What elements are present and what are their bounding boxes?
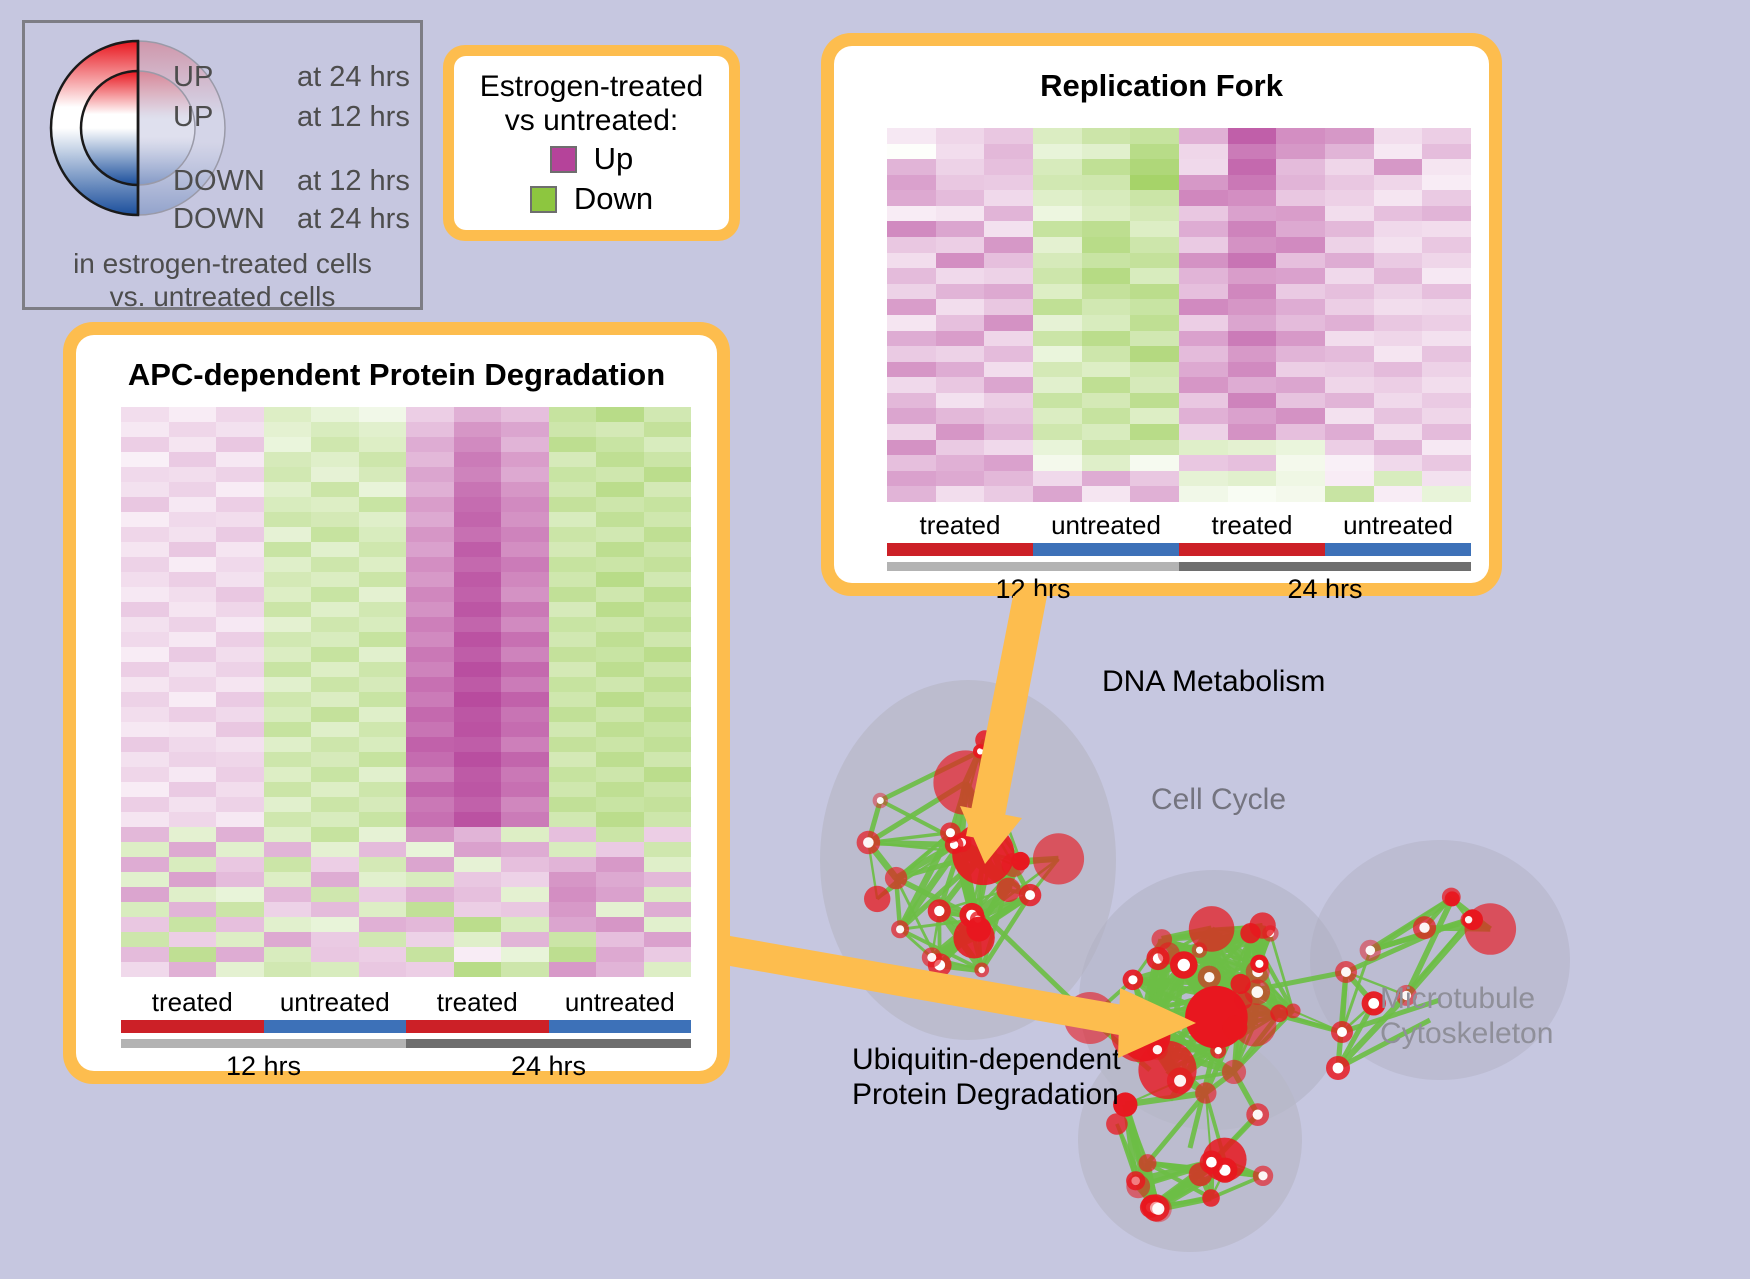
heatmap-cell <box>311 437 359 452</box>
heatmap-cell <box>887 284 936 300</box>
panel-apc-title: APC-dependent Protein Degradation <box>76 357 717 393</box>
heatmap-cell <box>121 512 169 527</box>
heatmap-cell <box>1130 486 1179 502</box>
network-node <box>1222 1060 1246 1084</box>
heatmap-cell <box>406 677 454 692</box>
heatmap-cell <box>596 722 644 737</box>
heatmap-cell <box>264 617 312 632</box>
heatmap-cell <box>454 572 502 587</box>
heatmap-cell <box>406 737 454 752</box>
treatment-labels: treated untreated treated untreated <box>121 987 691 1018</box>
heatmap-cell <box>121 662 169 677</box>
heatmap-cell <box>359 767 407 782</box>
heatmap-cell <box>549 662 597 677</box>
heatmap-cell <box>1033 424 1082 440</box>
heatmap-cell <box>501 812 549 827</box>
heatmap-cell <box>359 437 407 452</box>
heatmap-cell <box>216 902 264 917</box>
heatmap-cell <box>596 857 644 872</box>
heatmap-cell <box>264 872 312 887</box>
heatmap-cell <box>984 206 1033 222</box>
heatmap-cell <box>936 346 985 362</box>
heatmap-cell <box>984 424 1033 440</box>
panel-replication-fork-title: Replication Fork <box>834 68 1489 104</box>
heatmap-cell <box>549 917 597 932</box>
color-key-row-0-direction: UP <box>173 61 213 94</box>
timepoint-bar-segment <box>121 1039 406 1048</box>
heatmap-cell <box>359 842 407 857</box>
heatmap-cell <box>311 617 359 632</box>
heatmap-cell <box>549 497 597 512</box>
heatmap-cell <box>311 557 359 572</box>
heatmap-cell <box>406 902 454 917</box>
heatmap-cell <box>887 268 936 284</box>
heatmap-cell <box>1422 471 1471 487</box>
heatmap-cell <box>1179 253 1228 269</box>
heatmap-cell <box>549 527 597 542</box>
heatmap-cell <box>311 797 359 812</box>
heatmap-cell <box>1422 221 1471 237</box>
heatmap-cell <box>1276 159 1325 175</box>
heatmap-cell <box>264 917 312 932</box>
heatmap-cell <box>216 692 264 707</box>
heatmap-cell <box>1276 175 1325 191</box>
network-node-core <box>1419 923 1429 933</box>
heatmap-cell <box>1033 471 1082 487</box>
heatmap-cell <box>121 647 169 662</box>
color-key-footer: in estrogen-treated cells vs. untreated … <box>25 247 420 313</box>
heatmap-cell <box>121 692 169 707</box>
heatmap-cell <box>1033 331 1082 347</box>
heatmap-cell <box>454 587 502 602</box>
heatmap-cell <box>644 842 692 857</box>
heatmap-cell <box>596 602 644 617</box>
heatmap-cell <box>936 206 985 222</box>
timepoint-labels: 12 hrs 24 hrs <box>121 1051 691 1082</box>
heatmap-cell <box>1179 377 1228 393</box>
heatmap-cell <box>264 887 312 902</box>
network-node <box>1158 942 1180 964</box>
heatmap-cell <box>1130 175 1179 191</box>
heatmap-cell <box>121 887 169 902</box>
heatmap-cell <box>1228 455 1277 471</box>
heatmap-cell <box>984 190 1033 206</box>
heatmap-cell <box>169 542 217 557</box>
heatmap-cell <box>984 144 1033 160</box>
heatmap-cell <box>311 512 359 527</box>
heatmap-cell <box>501 752 549 767</box>
heatmap-cell <box>1325 144 1374 160</box>
heatmap-cell <box>887 486 936 502</box>
heatmap-cell <box>1033 377 1082 393</box>
color-key-row-2-time: at 12 hrs <box>297 165 410 198</box>
heatmap-cell <box>887 190 936 206</box>
heatmap-cell <box>454 737 502 752</box>
network-node-core <box>934 906 944 916</box>
heatmap-cell <box>887 362 936 378</box>
up-down-legend: Estrogen-treated vs untreated: Up Down <box>443 45 740 241</box>
heatmap-cell <box>501 527 549 542</box>
treatment-label: treated <box>887 510 1033 541</box>
timepoint-bar-segment <box>406 1039 691 1048</box>
heatmap-cell <box>1276 268 1325 284</box>
heatmap-cell <box>549 602 597 617</box>
network-node-core <box>1178 959 1190 971</box>
heatmap-cell <box>1082 471 1131 487</box>
heatmap-cell <box>1082 486 1131 502</box>
heatmap-cell <box>359 932 407 947</box>
heatmap-cell <box>264 662 312 677</box>
heatmap-cell <box>1082 206 1131 222</box>
heatmap-cell <box>264 407 312 422</box>
heatmap-cell <box>1325 128 1374 144</box>
heatmap-cell <box>936 331 985 347</box>
legend-item-down: Down <box>530 181 653 217</box>
heatmap-cell <box>454 497 502 512</box>
heatmap-cell <box>596 707 644 722</box>
heatmap-cell <box>936 253 985 269</box>
heatmap-cell <box>1228 471 1277 487</box>
heatmap-cell <box>1228 221 1277 237</box>
heatmap-cell <box>984 284 1033 300</box>
heatmap-cell <box>549 632 597 647</box>
heatmap-cell <box>216 782 264 797</box>
heatmap-cell <box>216 602 264 617</box>
heatmap-cell <box>644 602 692 617</box>
heatmap-cell <box>1033 299 1082 315</box>
heatmap-cell <box>1082 284 1131 300</box>
heatmap-cell <box>216 497 264 512</box>
heatmap-cell <box>169 647 217 662</box>
heatmap-cell <box>1374 471 1423 487</box>
heatmap-cell <box>1374 253 1423 269</box>
heatmap-cell <box>501 557 549 572</box>
heatmap-cell <box>121 677 169 692</box>
heatmap-cell <box>644 872 692 887</box>
network-node-core <box>1153 1045 1162 1054</box>
heatmap-cell <box>644 452 692 467</box>
heatmap-cell <box>984 128 1033 144</box>
heatmap-cell <box>501 587 549 602</box>
network-node-core <box>863 837 874 848</box>
heatmap-cell <box>216 467 264 482</box>
heatmap-cell <box>596 497 644 512</box>
heatmap-cell <box>501 662 549 677</box>
heatmap-cell <box>216 437 264 452</box>
heatmap-cell <box>1130 144 1179 160</box>
heatmap-cell <box>549 452 597 467</box>
heatmap-cell <box>1422 315 1471 331</box>
heatmap-cell <box>311 422 359 437</box>
heatmap-cell <box>501 602 549 617</box>
heatmap-cell <box>1325 393 1374 409</box>
heatmap-cell <box>1082 237 1131 253</box>
heatmap-cell <box>1422 268 1471 284</box>
heatmap-cell <box>1422 299 1471 315</box>
heatmap-cell <box>264 497 312 512</box>
heatmap-cell <box>121 722 169 737</box>
heatmap-cell <box>501 797 549 812</box>
heatmap-cell <box>216 932 264 947</box>
heatmap-cell <box>644 422 692 437</box>
heatmap-cell <box>359 617 407 632</box>
heatmap-cell <box>169 962 217 977</box>
heatmap-cell <box>359 797 407 812</box>
heatmap-cell <box>1130 315 1179 331</box>
heatmap-cell <box>1422 284 1471 300</box>
heatmap-cell <box>1033 440 1082 456</box>
heatmap-cell <box>984 253 1033 269</box>
heatmap-cell <box>549 737 597 752</box>
heatmap-cell <box>264 842 312 857</box>
heatmap-cell <box>644 497 692 512</box>
heatmap-cell <box>264 467 312 482</box>
heatmap-cell <box>936 268 985 284</box>
heatmap-cell <box>887 253 936 269</box>
network-node <box>1033 833 1084 884</box>
heatmap-cell <box>501 452 549 467</box>
heatmap-cell <box>1130 190 1179 206</box>
heatmap-cell <box>1276 471 1325 487</box>
heatmap-cell <box>1325 315 1374 331</box>
heatmap-cell <box>1082 331 1131 347</box>
heatmap-cell <box>216 917 264 932</box>
network-node-core <box>1196 947 1203 954</box>
heatmap-cell <box>121 767 169 782</box>
heatmap-cell <box>984 346 1033 362</box>
legend-title-line-1: Estrogen-treated <box>480 70 703 104</box>
heatmap-cell <box>311 527 359 542</box>
heatmap-cell <box>549 482 597 497</box>
heatmap-cell <box>501 407 549 422</box>
heatmap-cell <box>1422 159 1471 175</box>
network-node-core <box>1255 960 1263 968</box>
heatmap-cell <box>596 842 644 857</box>
heatmap-cell <box>596 677 644 692</box>
heatmap-cell <box>121 707 169 722</box>
heatmap-cell <box>454 917 502 932</box>
heatmap-cell <box>454 692 502 707</box>
legend-item-up-label: Up <box>594 141 634 177</box>
timepoint-label: 12 hrs <box>121 1051 406 1082</box>
heatmap-cell <box>311 467 359 482</box>
network-node <box>975 730 995 750</box>
heatmap-cell <box>1033 268 1082 284</box>
heatmap-cell <box>1179 221 1228 237</box>
network-node <box>1202 1189 1220 1207</box>
heatmap-cell <box>501 737 549 752</box>
heatmap-cell <box>984 377 1033 393</box>
heatmap-cell <box>1130 331 1179 347</box>
treatment-bar-segment <box>1325 543 1471 556</box>
heatmap-cell <box>311 962 359 977</box>
heatmap-cell <box>311 842 359 857</box>
heatmap-cell <box>311 932 359 947</box>
heatmap-cell <box>216 482 264 497</box>
heatmap-cell <box>169 662 217 677</box>
heatmap-cell <box>549 587 597 602</box>
heatmap-cell <box>121 542 169 557</box>
heatmap-cell <box>1422 128 1471 144</box>
heatmap-cell <box>454 482 502 497</box>
treatment-bar-segment <box>549 1020 692 1033</box>
heatmap-cell <box>359 572 407 587</box>
network-node-core <box>1215 1047 1222 1054</box>
heatmap-cell <box>406 767 454 782</box>
heatmap-cell <box>596 467 644 482</box>
heatmap-cell <box>264 752 312 767</box>
heatmap-cell <box>264 902 312 917</box>
heatmap-cell <box>1374 377 1423 393</box>
network-node-core <box>927 953 936 962</box>
heatmap-cell <box>1228 424 1277 440</box>
heatmap-cell <box>264 512 312 527</box>
heatmap-cell <box>1179 159 1228 175</box>
heatmap-cell <box>1325 284 1374 300</box>
heatmap-cell <box>359 947 407 962</box>
heatmap-cell <box>887 346 936 362</box>
heatmap-cell <box>406 692 454 707</box>
heatmap-cell <box>406 632 454 647</box>
heatmap-cell <box>264 632 312 647</box>
heatmap-cell <box>169 677 217 692</box>
heatmap-cell <box>1130 268 1179 284</box>
heatmap-cell <box>1325 268 1374 284</box>
heatmap-cell <box>1374 175 1423 191</box>
heatmap-cell <box>1033 393 1082 409</box>
heatmap-cell <box>169 857 217 872</box>
heatmap-cell <box>1422 393 1471 409</box>
heatmap-cell <box>454 677 502 692</box>
heatmap-cell <box>1033 346 1082 362</box>
heatmap-cell <box>1422 424 1471 440</box>
network-node <box>864 886 890 912</box>
heatmap-cell <box>169 812 217 827</box>
heatmap-cell <box>1276 237 1325 253</box>
heatmap-cell <box>549 512 597 527</box>
heatmap-cell <box>549 947 597 962</box>
heatmap-cell <box>1179 331 1228 347</box>
heatmap-cell <box>311 587 359 602</box>
heatmap-cell <box>406 617 454 632</box>
network-node-core <box>1366 946 1376 956</box>
heatmap-cell <box>1033 221 1082 237</box>
heatmap-cell <box>454 797 502 812</box>
heatmap-cell <box>596 527 644 542</box>
heatmap-cell <box>121 632 169 647</box>
network-node-core <box>978 967 985 974</box>
heatmap-cell <box>121 737 169 752</box>
treatment-label: treated <box>406 987 549 1018</box>
network-node-core <box>1174 1075 1186 1087</box>
heatmap-cell <box>1374 299 1423 315</box>
heatmap-cell <box>644 407 692 422</box>
cluster-label-dna-metabolism: DNA Metabolism <box>1102 665 1325 699</box>
heatmap-cell <box>311 482 359 497</box>
heatmap-cell <box>359 872 407 887</box>
heatmap-cell <box>549 752 597 767</box>
heatmap-cell <box>1374 440 1423 456</box>
heatmap-cell <box>549 857 597 872</box>
heatmap-cell <box>311 902 359 917</box>
network-node-core <box>1025 890 1035 900</box>
timepoint-color-bar <box>887 562 1471 571</box>
heatmap-cell <box>644 737 692 752</box>
heatmap-cell <box>264 602 312 617</box>
heatmap-cell <box>644 767 692 782</box>
cluster-label-ubiquitin-dependent-protein-degradation: Ubiquitin-dependent Protein Degradation <box>852 1042 1121 1113</box>
heatmap-cell <box>1179 455 1228 471</box>
heatmap-cell <box>596 482 644 497</box>
heatmap-cell <box>644 797 692 812</box>
network-node <box>933 750 997 814</box>
timepoint-bar-segment <box>887 562 1179 571</box>
heatmap-cell <box>169 512 217 527</box>
heatmap-cell <box>1325 175 1374 191</box>
heatmap-cell <box>1033 455 1082 471</box>
network-node <box>1249 912 1275 938</box>
heatmap-cell <box>406 932 454 947</box>
treatment-color-bar <box>121 1020 691 1033</box>
heatmap-cell <box>454 932 502 947</box>
heatmap-cell <box>644 812 692 827</box>
heatmap-cell <box>1033 253 1082 269</box>
heatmap-cell <box>169 947 217 962</box>
heatmap-cell <box>264 422 312 437</box>
heatmap-cell <box>1422 331 1471 347</box>
heatmap-cell <box>1276 144 1325 160</box>
heatmap-cell <box>1082 408 1131 424</box>
heatmap-cell <box>406 722 454 737</box>
heatmap-cell <box>936 362 985 378</box>
heatmap-cell <box>216 617 264 632</box>
heatmap-cell <box>406 482 454 497</box>
heatmap-cell <box>549 962 597 977</box>
heatmap-cell <box>264 677 312 692</box>
heatmap-cell <box>1082 393 1131 409</box>
heatmap-cell <box>1082 424 1131 440</box>
heatmap-cell <box>1374 221 1423 237</box>
heatmap-cell <box>1325 362 1374 378</box>
heatmap-cell <box>169 407 217 422</box>
heatmap-cell <box>359 467 407 482</box>
heatmap-cell <box>1033 144 1082 160</box>
heatmap-cell <box>1374 455 1423 471</box>
heatmap-cell <box>121 437 169 452</box>
heatmap-cell <box>1082 346 1131 362</box>
heatmap-cell <box>1228 144 1277 160</box>
heatmap-cell <box>501 722 549 737</box>
heatmap-cell <box>549 617 597 632</box>
heatmap-cell <box>1228 346 1277 362</box>
heatmap-cell <box>644 707 692 722</box>
heatmap-cell <box>216 512 264 527</box>
heatmap-cell <box>406 752 454 767</box>
heatmap-cell <box>644 437 692 452</box>
heatmap-cell <box>1033 408 1082 424</box>
heatmap-cell <box>121 872 169 887</box>
network-node <box>952 823 1014 885</box>
heatmap-apc-dependent-protein-degradation <box>121 407 691 977</box>
heatmap-cell <box>501 632 549 647</box>
heatmap-cell <box>596 647 644 662</box>
heatmap-cell <box>501 512 549 527</box>
heatmap-cell <box>121 557 169 572</box>
heatmap-cell <box>406 572 454 587</box>
heatmap-cell <box>1228 486 1277 502</box>
heatmap-cell <box>1422 144 1471 160</box>
heatmap-cell <box>169 602 217 617</box>
